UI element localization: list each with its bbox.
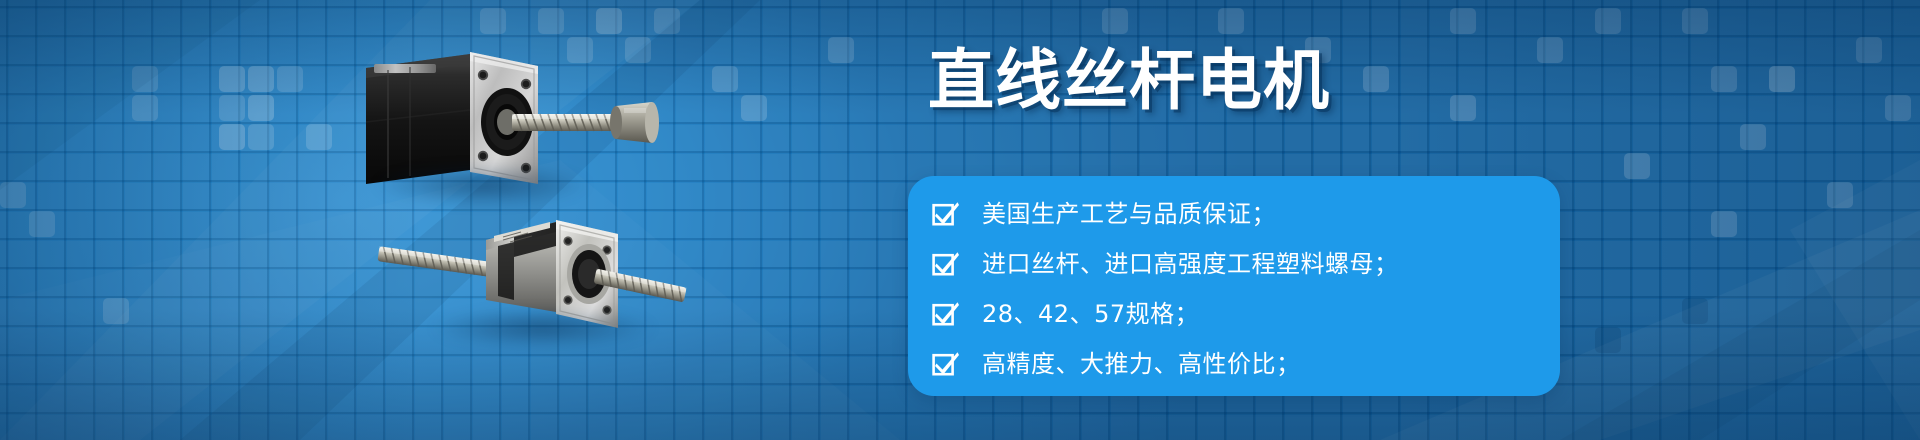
feature-item: 进口丝杆、进口高强度工程塑料螺母； [932, 240, 1560, 288]
feature-text: 美国生产工艺与品质保证； [982, 202, 1276, 226]
feature-item: 28、42、57规格； [932, 290, 1560, 338]
feature-text: 高精度、大推力、高性价比； [982, 352, 1301, 376]
checkbox-checked-icon [932, 300, 960, 328]
product-banner: 直线丝杆电机 美国生产工艺与品质保证； [0, 0, 1920, 440]
banner-title: 直线丝杆电机 [928, 48, 1330, 114]
checkbox-checked-icon [932, 250, 960, 278]
feature-text: 28、42、57规格； [982, 302, 1199, 326]
feature-text: 进口丝杆、进口高强度工程塑料螺母； [982, 252, 1399, 276]
checkbox-checked-icon [932, 200, 960, 228]
feature-item: 高精度、大推力、高性价比； [932, 340, 1560, 388]
checkbox-checked-icon [932, 350, 960, 378]
feature-item: 美国生产工艺与品质保证； [932, 190, 1560, 238]
product-image-silver-motor [318, 196, 688, 346]
product-image-black-motor [352, 44, 672, 204]
feature-list-card: 美国生产工艺与品质保证； 进口丝杆、进口高强度工程塑料螺母； [908, 176, 1560, 396]
